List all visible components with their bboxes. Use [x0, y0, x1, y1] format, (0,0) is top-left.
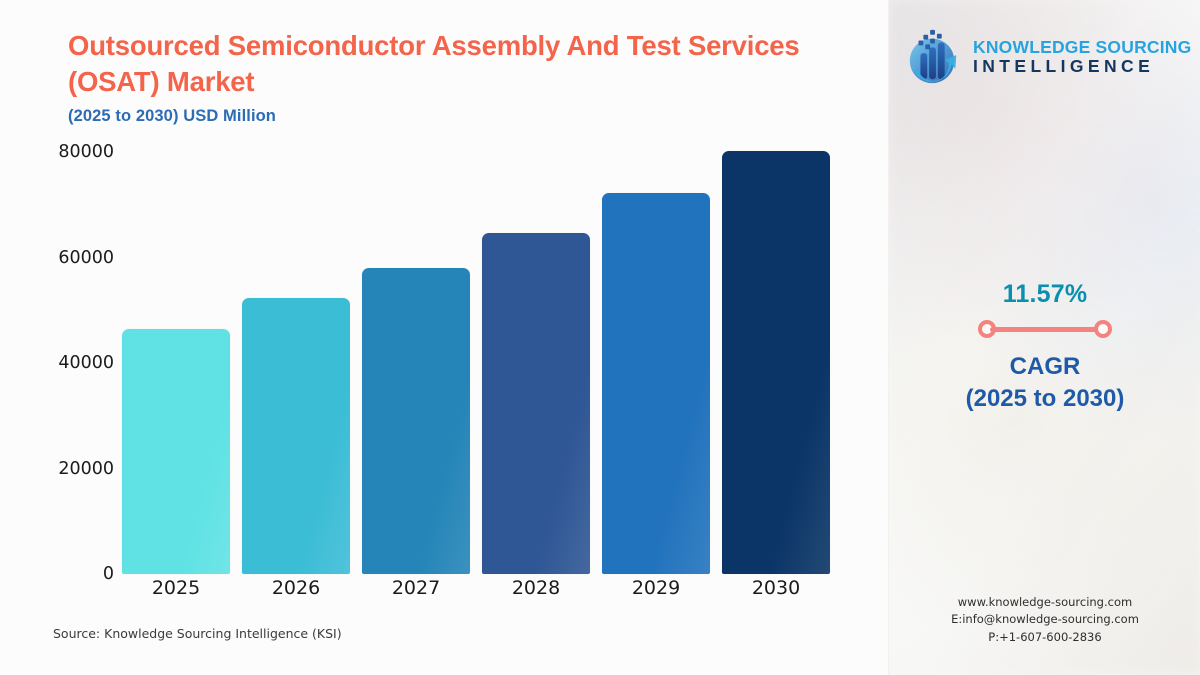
x-axis-tick-label: 2026 — [242, 577, 350, 599]
knowledge-sourcing-emblem-icon — [903, 26, 965, 88]
bar-2029[interactable] — [602, 193, 710, 574]
contact-website[interactable]: www.knowledge-sourcing.com — [889, 594, 1200, 612]
cagr-label: CAGR — [889, 350, 1200, 385]
chart-panel: Outsourced Semiconductor Assembly And Te… — [0, 0, 888, 675]
x-axis-tick-label: 2027 — [362, 577, 470, 599]
divider-line — [990, 327, 1100, 332]
bar-series: 202520262027202820292030 — [122, 0, 838, 675]
brand-name-line1: KNOWLEDGE SOURCING — [973, 38, 1191, 57]
cagr-divider-icon — [978, 320, 1112, 338]
brand-logo[interactable]: KNOWLEDGE SOURCING INTELLIGENCE — [903, 26, 1191, 88]
brand-panel: KNOWLEDGE SOURCING INTELLIGENCE 11.57% C… — [888, 0, 1200, 675]
bar-2027[interactable] — [362, 268, 470, 574]
y-axis-tick-label: 60000 — [34, 248, 114, 268]
bar-2030[interactable] — [722, 151, 830, 574]
y-axis-tick-label: 40000 — [34, 353, 114, 373]
brand-logo-text: KNOWLEDGE SOURCING INTELLIGENCE — [973, 38, 1191, 76]
divider-dot-right-icon — [1094, 320, 1112, 338]
y-axis-tick-label: 0 — [34, 564, 114, 584]
cagr-period: (2025 to 2030) — [889, 385, 1200, 413]
bar-2026[interactable] — [242, 298, 350, 574]
y-axis: 020000400006000080000 — [30, 0, 114, 675]
x-axis-tick-label: 2025 — [122, 577, 230, 599]
y-axis-tick-label: 80000 — [34, 142, 114, 162]
bar-2025[interactable] — [122, 329, 230, 574]
contact-block: www.knowledge-sourcing.com E:info@knowle… — [889, 594, 1200, 647]
x-axis-tick-label: 2028 — [482, 577, 590, 599]
brand-name-line2: INTELLIGENCE — [973, 57, 1191, 76]
cagr-block: 11.57% CAGR (2025 to 2030) — [889, 280, 1200, 413]
infographic-page: Outsourced Semiconductor Assembly And Te… — [0, 0, 1200, 675]
x-axis-tick-label: 2030 — [722, 577, 830, 599]
bar-2028[interactable] — [482, 233, 590, 574]
bar-chart-plot: 020000400006000080000 202520262027202820… — [0, 0, 888, 675]
x-axis-tick-label: 2029 — [602, 577, 710, 599]
y-axis-tick-label: 20000 — [34, 459, 114, 479]
contact-phone: P:+1-607-600-2836 — [889, 629, 1200, 647]
cagr-value: 11.57% — [889, 280, 1200, 309]
source-note: Source: Knowledge Sourcing Intelligence … — [53, 626, 342, 641]
contact-email[interactable]: E:info@knowledge-sourcing.com — [889, 611, 1200, 629]
